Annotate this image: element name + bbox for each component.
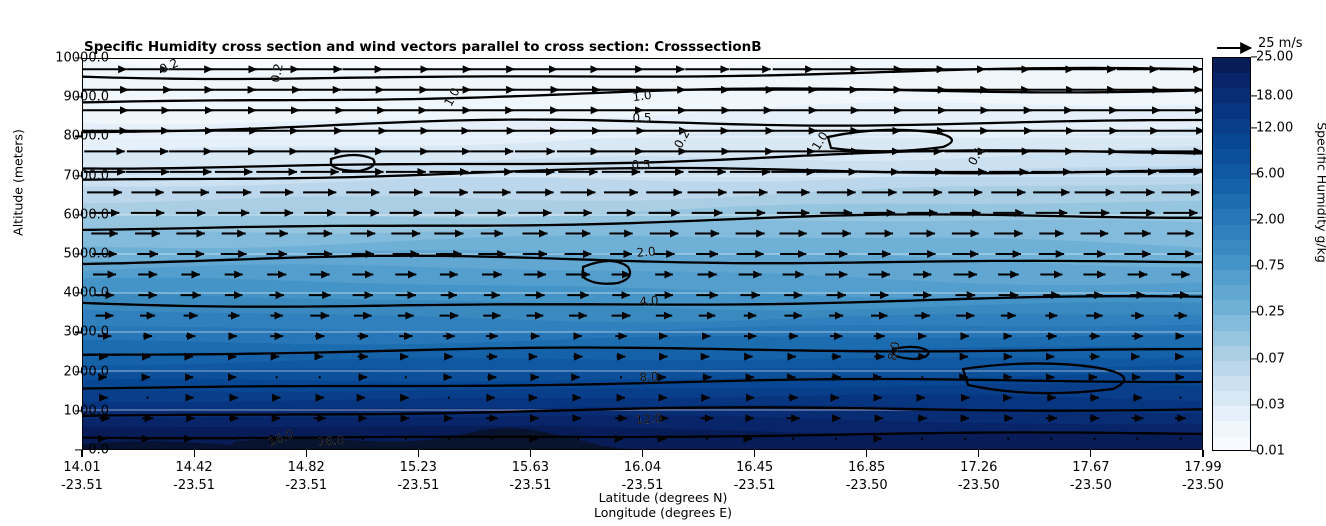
- y-tick-mark: [75, 410, 82, 411]
- y-tick-label: 1000.0: [64, 403, 110, 418]
- y-tick-label: 7000.0: [64, 168, 110, 183]
- x-tick-mark: [306, 450, 307, 457]
- x-tick-label: 14.42 -23.51: [173, 459, 215, 494]
- y-tick-label: 9000.0: [64, 90, 110, 105]
- colorbar-tick-mark: [1251, 312, 1257, 313]
- colorbar-tick-label: 0.25: [1256, 305, 1285, 320]
- colorbar-segment: [1213, 361, 1250, 376]
- y-tick-mark: [75, 293, 82, 294]
- y-tick-mark: [75, 57, 82, 58]
- x-tick-mark: [978, 450, 979, 457]
- contour-label: 4.0: [639, 293, 659, 309]
- cross-section-plot: 0.20.21.01.00.50.21.00.10.52.04.08.08.01…: [82, 58, 1203, 450]
- colorbar-segment: [1213, 103, 1250, 118]
- reference-vector-label: 25 m/s: [1258, 36, 1303, 51]
- contour-label: 16.0: [317, 433, 345, 449]
- y-tick-label: 6000.0: [64, 207, 110, 222]
- y-tick-label: 10000.0: [55, 51, 109, 66]
- x-tick-label: 17.26 -23.50: [958, 459, 1000, 494]
- x-tick-mark: [866, 450, 867, 457]
- colorbar: [1212, 57, 1251, 451]
- y-tick-label: 5000.0: [64, 247, 110, 262]
- colorbar-segment: [1213, 376, 1250, 391]
- x-axis-label-latitude: Latitude (degrees N): [0, 490, 1326, 505]
- colorbar-tick-label: 18.00: [1256, 88, 1293, 103]
- x-tick-label: 17.67 -23.50: [1070, 459, 1112, 494]
- colorbar-segment: [1213, 331, 1250, 346]
- colorbar-segment: [1213, 225, 1250, 240]
- y-axis-label: Altitude (meters): [11, 83, 26, 283]
- contour-label: 12.0: [635, 411, 663, 427]
- x-tick-mark: [194, 450, 195, 457]
- x-tick-mark: [1090, 450, 1091, 457]
- contour-label: 2.0: [636, 244, 656, 260]
- colorbar-tick-label: 0.03: [1256, 397, 1285, 412]
- x-tick-mark: [754, 450, 755, 457]
- colorbar-tick-label: 0.07: [1256, 351, 1285, 366]
- figure-root: Specific Humidity cross section and wind…: [0, 0, 1326, 526]
- y-tick-mark: [75, 175, 82, 176]
- contour-label: 0.5: [631, 158, 650, 172]
- y-tick-mark: [75, 371, 82, 372]
- colorbar-tick-label: 0.01: [1256, 444, 1285, 459]
- x-tick-label: 15.23 -23.51: [397, 459, 439, 494]
- colorbar-segment: [1213, 255, 1250, 270]
- colorbar-tick-mark: [1251, 127, 1257, 128]
- colorbar-segment: [1213, 134, 1250, 149]
- colorbar-tick-label: 2.00: [1256, 213, 1285, 228]
- colorbar-tick-mark: [1251, 173, 1257, 174]
- x-tick-mark: [1202, 450, 1203, 457]
- colorbar-segment: [1213, 437, 1250, 451]
- colorbar-tick-mark: [1251, 450, 1257, 451]
- x-tick-label: 15.63 -23.51: [509, 459, 551, 494]
- colorbar-segment: [1213, 285, 1250, 300]
- x-tick-label: 16.45 -23.51: [734, 459, 776, 494]
- y-tick-mark: [75, 136, 82, 137]
- colorbar-segment: [1213, 149, 1250, 164]
- colorbar-segment: [1213, 270, 1250, 285]
- colorbar-tick-mark: [1251, 95, 1257, 96]
- x-tick-label: 16.04 -23.51: [622, 459, 664, 494]
- colorbar-segment: [1213, 315, 1250, 330]
- y-tick-label: 2000.0: [64, 364, 110, 379]
- y-tick-label: 3000.0: [64, 325, 110, 340]
- colorbar-tick-label: 6.00: [1256, 167, 1285, 182]
- colorbar-label: Specific Humidity g/kg: [1315, 93, 1326, 293]
- colorbar-segment: [1213, 406, 1250, 421]
- colorbar-tick-mark: [1251, 266, 1257, 267]
- x-tick-label: 14.82 -23.51: [285, 459, 327, 494]
- x-tick-mark: [81, 450, 82, 457]
- colorbar-tick-label: 0.75: [1256, 259, 1285, 274]
- colorbar-segment: [1213, 346, 1250, 361]
- y-tick-label: 4000.0: [64, 286, 110, 301]
- colorbar-segment: [1213, 240, 1250, 255]
- colorbar-segment: [1213, 58, 1250, 73]
- x-tick-label: 17.99 -23.50: [1182, 459, 1224, 494]
- x-axis-label-longitude: Longitude (degrees E): [0, 505, 1326, 520]
- y-tick-label: 8000.0: [64, 129, 110, 144]
- y-tick-mark: [75, 253, 82, 254]
- x-tick-label: 16.85 -23.50: [846, 459, 888, 494]
- colorbar-tick-label: 12.00: [1256, 120, 1293, 135]
- y-tick-mark: [75, 214, 82, 215]
- x-tick-label: 14.01 -23.51: [61, 459, 103, 494]
- contour-label: 1.0: [632, 88, 653, 105]
- colorbar-tick-mark: [1251, 220, 1257, 221]
- colorbar-segment: [1213, 209, 1250, 224]
- title-line-1: Specific Humidity cross section and wind…: [84, 39, 762, 55]
- colorbar-tick-mark: [1251, 404, 1257, 405]
- colorbar-segment: [1213, 300, 1250, 315]
- colorbar-segment: [1213, 179, 1250, 194]
- colorbar-tick-mark: [1251, 358, 1257, 359]
- y-tick-mark: [75, 97, 82, 98]
- colorbar-segment: [1213, 119, 1250, 134]
- contour-label: 0.5: [632, 111, 651, 125]
- colorbar-segment: [1213, 391, 1250, 406]
- y-tick-label: 0.0: [88, 443, 109, 458]
- colorbar-segment: [1213, 421, 1250, 436]
- colorbar-segment: [1213, 88, 1250, 103]
- colorbar-segment: [1213, 164, 1250, 179]
- colorbar-segment: [1213, 194, 1250, 209]
- contour-label: 8.0: [639, 370, 659, 385]
- x-tick-mark: [530, 450, 531, 457]
- x-tick-mark: [642, 450, 643, 457]
- y-tick-mark: [75, 332, 82, 333]
- x-tick-mark: [418, 450, 419, 457]
- colorbar-segment: [1213, 73, 1250, 88]
